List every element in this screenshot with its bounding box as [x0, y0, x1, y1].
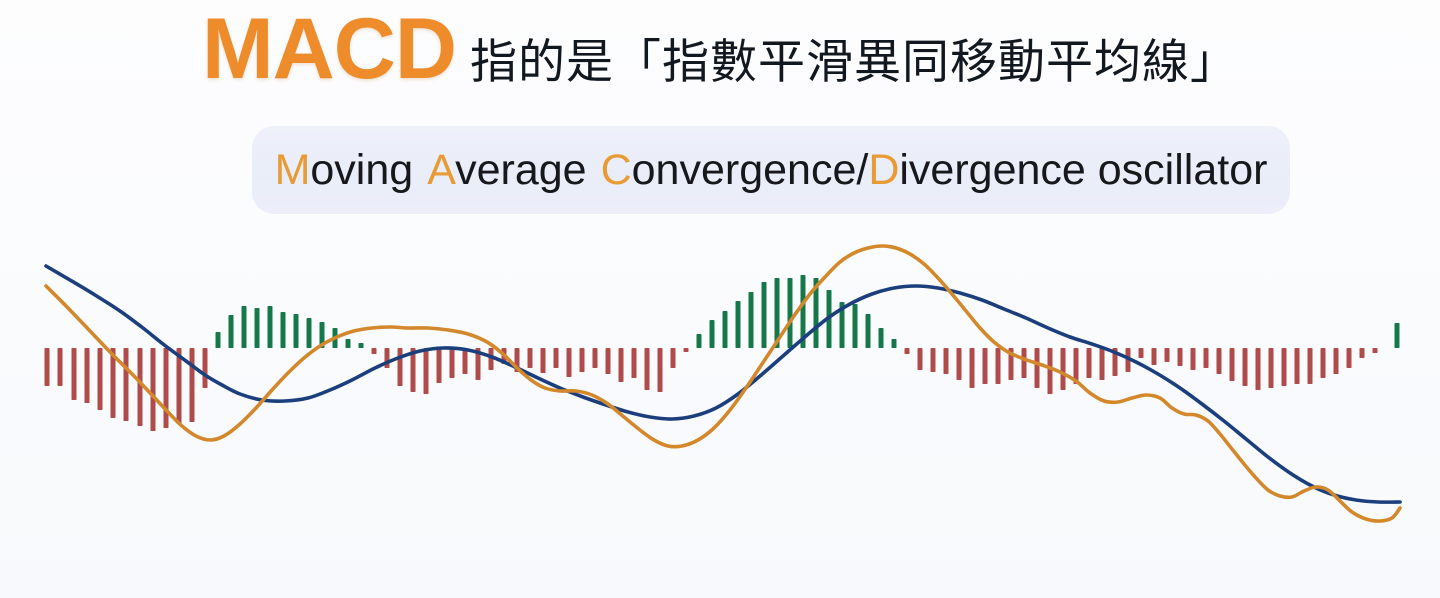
histogram-bar-negative	[684, 348, 689, 352]
histogram-bar-negative	[528, 348, 533, 368]
heading: MACD 指的是「指數平滑異同移動平均線」	[0, 6, 1440, 116]
histogram-bar-negative	[151, 348, 156, 431]
histogram-bar-negative	[1295, 348, 1300, 384]
histogram-bar-negative	[606, 348, 611, 374]
subtitle-accent-letter: A	[427, 146, 455, 194]
histogram-bar-negative	[931, 348, 936, 372]
histogram-bar-positive	[723, 311, 728, 348]
histogram-bar-negative	[619, 348, 624, 382]
histogram-bar-negative	[957, 348, 962, 380]
histogram-bar-negative	[1204, 348, 1209, 368]
histogram-bar-positive	[1395, 323, 1400, 348]
histogram-bar-negative	[85, 348, 90, 403]
histogram-bar-negative	[1139, 348, 1144, 358]
histogram-bar-negative	[1165, 348, 1170, 362]
histogram-bar-negative	[124, 348, 129, 421]
histogram-bar-negative	[1217, 348, 1222, 374]
subtitle-segment: verage	[455, 146, 586, 194]
histogram-bar-negative	[1360, 348, 1365, 358]
subtitle-segment: oving	[310, 146, 413, 194]
histogram-bar-negative	[1321, 348, 1326, 378]
histogram-bar-positive	[736, 301, 741, 348]
histogram-bar-negative	[424, 348, 429, 394]
histogram-bar-negative	[658, 348, 663, 392]
signal-line-path	[46, 246, 1400, 521]
histogram-bar-negative	[983, 348, 988, 384]
histogram-bar-negative	[671, 348, 676, 368]
histogram-bar-negative	[372, 348, 377, 354]
histogram-bar-positive	[294, 314, 299, 348]
histogram-bar-negative	[164, 348, 169, 428]
histogram-bar-negative	[177, 348, 182, 424]
histogram-bar-positive	[307, 318, 312, 348]
histogram-bar-negative	[905, 348, 910, 354]
histogram-bar-positive	[710, 320, 715, 348]
histogram-bar-negative	[463, 348, 468, 374]
histogram-bar-positive	[242, 306, 247, 348]
histogram-bar-negative	[203, 348, 208, 388]
histogram-bar-negative	[1061, 348, 1066, 390]
histogram-bar-negative	[1178, 348, 1183, 366]
histogram-bar-negative	[1269, 348, 1274, 388]
macd-histogram	[45, 275, 1400, 431]
histogram-bar-positive	[866, 314, 871, 348]
subtitle-accent-letter: D	[868, 146, 899, 194]
histogram-bar-negative	[554, 348, 559, 368]
histogram-bar-negative	[1256, 348, 1261, 390]
histogram-bar-positive	[255, 308, 260, 348]
macd-line-path	[46, 266, 1400, 502]
histogram-bar-negative	[567, 348, 572, 377]
histogram-bar-negative	[72, 348, 77, 400]
histogram-bar-positive	[346, 339, 351, 348]
histogram-bar-negative	[398, 348, 403, 386]
histogram-bar-negative	[98, 348, 103, 410]
histogram-bar-negative	[1230, 348, 1235, 381]
histogram-bar-negative	[1100, 348, 1105, 380]
histogram-bar-negative	[944, 348, 949, 374]
macd-lines	[46, 246, 1400, 521]
histogram-bar-positive	[281, 312, 286, 348]
histogram-bar-positive	[697, 334, 702, 348]
macd-chart-svg	[0, 218, 1440, 598]
histogram-bar-negative	[580, 348, 585, 372]
histogram-bar-negative	[996, 348, 1001, 384]
histogram-bar-negative	[190, 348, 195, 422]
histogram-bar-negative	[1022, 348, 1027, 378]
subtitle-accent-letter: M	[275, 146, 311, 194]
subtitle-pill: MovingAverageConvergence/Divergence osci…	[252, 126, 1290, 214]
histogram-bar-negative	[1087, 348, 1092, 378]
histogram-bar-negative	[1243, 348, 1248, 386]
histogram-bar-negative	[918, 348, 923, 370]
page-title-chinese: 指的是「指數平滑異同移動平均線」	[470, 39, 1238, 86]
histogram-bar-positive	[853, 304, 858, 348]
histogram-bar-negative	[593, 348, 598, 368]
histogram-bar-negative	[1048, 348, 1053, 394]
histogram-bar-positive	[749, 292, 754, 348]
histogram-bar-negative	[138, 348, 143, 426]
subtitle-segment: onvergence/	[632, 146, 869, 194]
subtitle-expansion: MovingAverageConvergence/Divergence osci…	[275, 146, 1268, 195]
histogram-bar-negative	[541, 348, 546, 373]
histogram-bar-negative	[450, 348, 455, 378]
histogram-bar-positive	[879, 328, 884, 348]
histogram-bar-positive	[762, 282, 767, 348]
histogram-bar-negative	[1373, 348, 1378, 353]
histogram-bar-positive	[268, 306, 273, 348]
macd-infographic: MACD 指的是「指數平滑異同移動平均線」 MovingAverageConve…	[0, 0, 1440, 598]
macd-chart	[0, 218, 1440, 598]
histogram-bar-negative	[437, 348, 442, 383]
histogram-bar-positive	[216, 332, 221, 348]
histogram-bar-negative	[1308, 348, 1313, 384]
histogram-bar-negative	[645, 348, 650, 390]
histogram-bar-negative	[1191, 348, 1196, 370]
subtitle-accent-letter: C	[601, 146, 632, 194]
histogram-bar-negative	[58, 348, 63, 386]
histogram-bar-negative	[45, 348, 50, 386]
histogram-bar-positive	[229, 315, 234, 348]
histogram-bar-negative	[632, 348, 637, 378]
subtitle-segment: ivergence oscillator	[899, 146, 1267, 194]
histogram-bar-negative	[1334, 348, 1339, 374]
histogram-bar-positive	[359, 343, 364, 348]
histogram-bar-negative	[1282, 348, 1287, 386]
histogram-bar-positive	[788, 278, 793, 348]
histogram-bar-negative	[1152, 348, 1157, 365]
histogram-bar-positive	[892, 339, 897, 348]
page-title-acronym: MACD	[202, 6, 456, 92]
histogram-bar-negative	[1347, 348, 1352, 368]
histogram-bar-negative	[970, 348, 975, 388]
histogram-bar-negative	[1035, 348, 1040, 388]
